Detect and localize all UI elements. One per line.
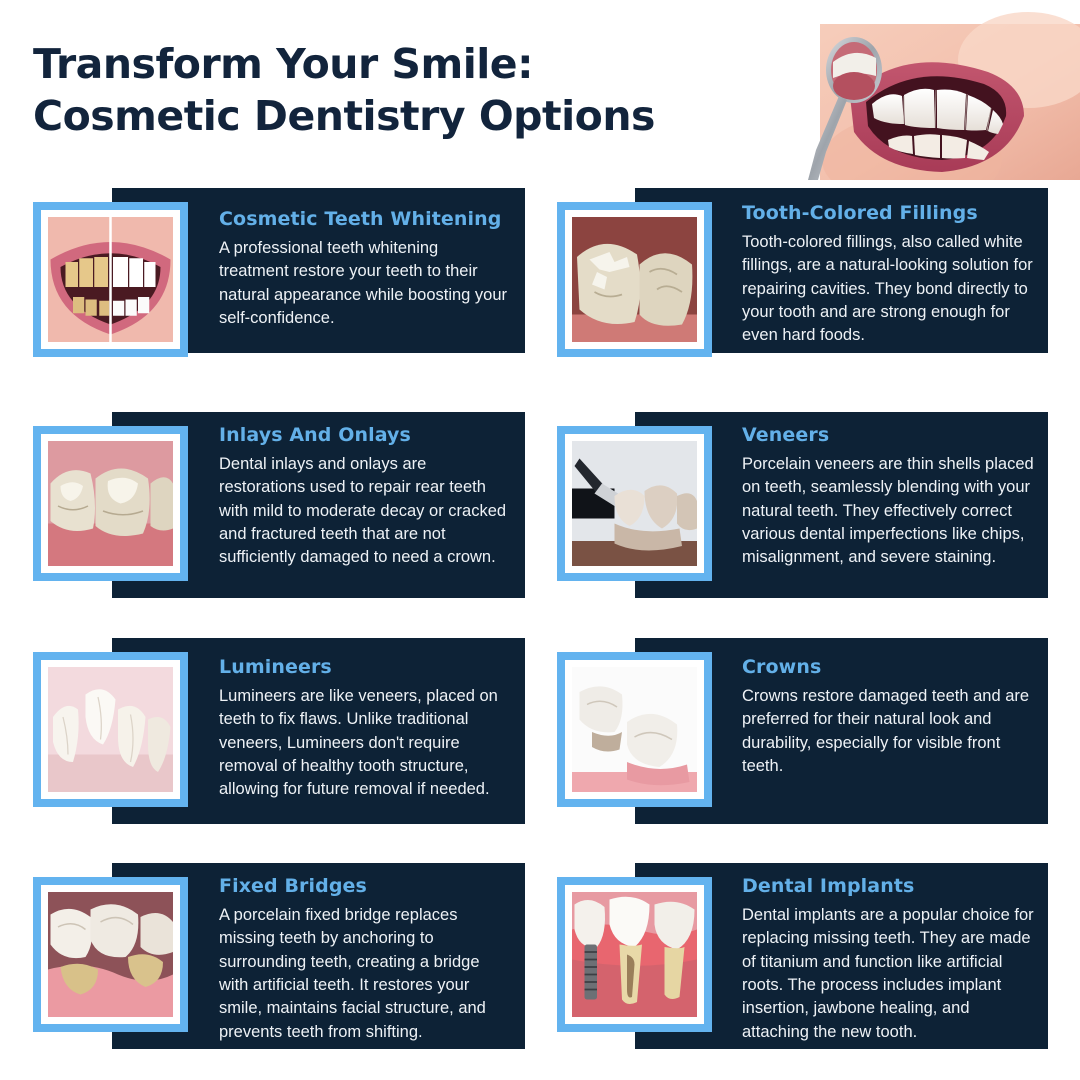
card-text: Porcelain veneers are thin shells placed… (742, 453, 1034, 570)
card-thumbnail (557, 202, 712, 357)
card-inlays-and-onlays[interactable]: Inlays And Onlays Dental inlays and onla… (0, 412, 530, 598)
card-title: Tooth-Colored Fillings (742, 202, 1034, 225)
thumbnail-white-frame (565, 210, 704, 349)
thumbnail-white-frame (41, 210, 180, 349)
card-thumbnail (33, 652, 188, 807)
card-thumbnail (33, 877, 188, 1032)
card-cosmetic-teeth-whitening[interactable]: Cosmetic Teeth Whitening A professional … (0, 188, 530, 353)
card-title: Dental Implants (742, 875, 1034, 898)
thumbnail-image-whitening (48, 217, 173, 342)
card-title: Fixed Bridges (219, 875, 511, 898)
card-crowns[interactable]: Crowns Crowns restore damaged teeth and … (520, 638, 1080, 824)
card-thumbnail (33, 202, 188, 357)
card-thumbnail (557, 652, 712, 807)
card-text: Dental implants are a popular choice for… (742, 904, 1034, 1045)
card-title: Crowns (742, 656, 1034, 679)
card-title: Inlays And Onlays (219, 424, 511, 447)
card-body: Inlays And Onlays Dental inlays and onla… (219, 424, 511, 570)
thumbnail-white-frame (41, 660, 180, 799)
card-title: Lumineers (219, 656, 511, 679)
card-thumbnail (557, 426, 712, 581)
card-title: Veneers (742, 424, 1034, 447)
card-fixed-bridges[interactable]: Fixed Bridges A porcelain fixed bridge r… (0, 863, 530, 1049)
card-body: Fixed Bridges A porcelain fixed bridge r… (219, 875, 511, 1044)
thumbnail-image-dental-implant (572, 892, 697, 1017)
card-title: Cosmetic Teeth Whitening (219, 208, 511, 231)
card-text: Lumineers are like veneers, placed on te… (219, 685, 511, 802)
card-body: Crowns Crowns restore damaged teeth and … (742, 656, 1034, 778)
thumbnail-image-crown (572, 667, 697, 792)
card-body: Dental Implants Dental implants are a po… (742, 875, 1034, 1044)
card-body: Cosmetic Teeth Whitening A professional … (219, 208, 511, 330)
header: Transform Your Smile: Cosmetic Dentistry… (0, 0, 1080, 185)
card-body: Lumineers Lumineers are like veneers, pl… (219, 656, 511, 802)
card-text: Crowns restore damaged teeth and are pre… (742, 685, 1034, 779)
card-text: Dental inlays and onlays are restoration… (219, 453, 511, 570)
thumbnail-image-veneer (572, 441, 697, 566)
thumbnail-image-lumineers (48, 667, 173, 792)
card-tooth-colored-fillings[interactable]: Tooth-Colored Fillings Tooth-colored fil… (520, 188, 1080, 353)
page-title: Transform Your Smile: Cosmetic Dentistry… (33, 38, 655, 143)
thumbnail-image-filling (572, 217, 697, 342)
thumbnail-image-fixed-bridge (48, 892, 173, 1017)
thumbnail-white-frame (565, 660, 704, 799)
thumbnail-white-frame (41, 434, 180, 573)
thumbnail-white-frame (565, 885, 704, 1024)
card-thumbnail (557, 877, 712, 1032)
thumbnail-white-frame (41, 885, 180, 1024)
card-body: Tooth-Colored Fillings Tooth-colored fil… (742, 202, 1034, 348)
card-text: A porcelain fixed bridge replaces missin… (219, 904, 511, 1045)
card-text: Tooth-colored fillings, also called whit… (742, 231, 1034, 348)
thumbnail-image-inlay-onlay (48, 441, 173, 566)
card-body: Veneers Porcelain veneers are thin shell… (742, 424, 1034, 570)
card-dental-implants[interactable]: Dental Implants Dental implants are a po… (520, 863, 1080, 1049)
thumbnail-white-frame (565, 434, 704, 573)
card-text: A professional teeth whitening treatment… (219, 237, 511, 331)
card-lumineers[interactable]: Lumineers Lumineers are like veneers, pl… (0, 638, 530, 824)
card-thumbnail (33, 426, 188, 581)
infographic-page: Transform Your Smile: Cosmetic Dentistry… (0, 0, 1080, 1080)
hero-image-smile-with-mirror (792, 0, 1080, 180)
card-veneers[interactable]: Veneers Porcelain veneers are thin shell… (520, 412, 1080, 598)
